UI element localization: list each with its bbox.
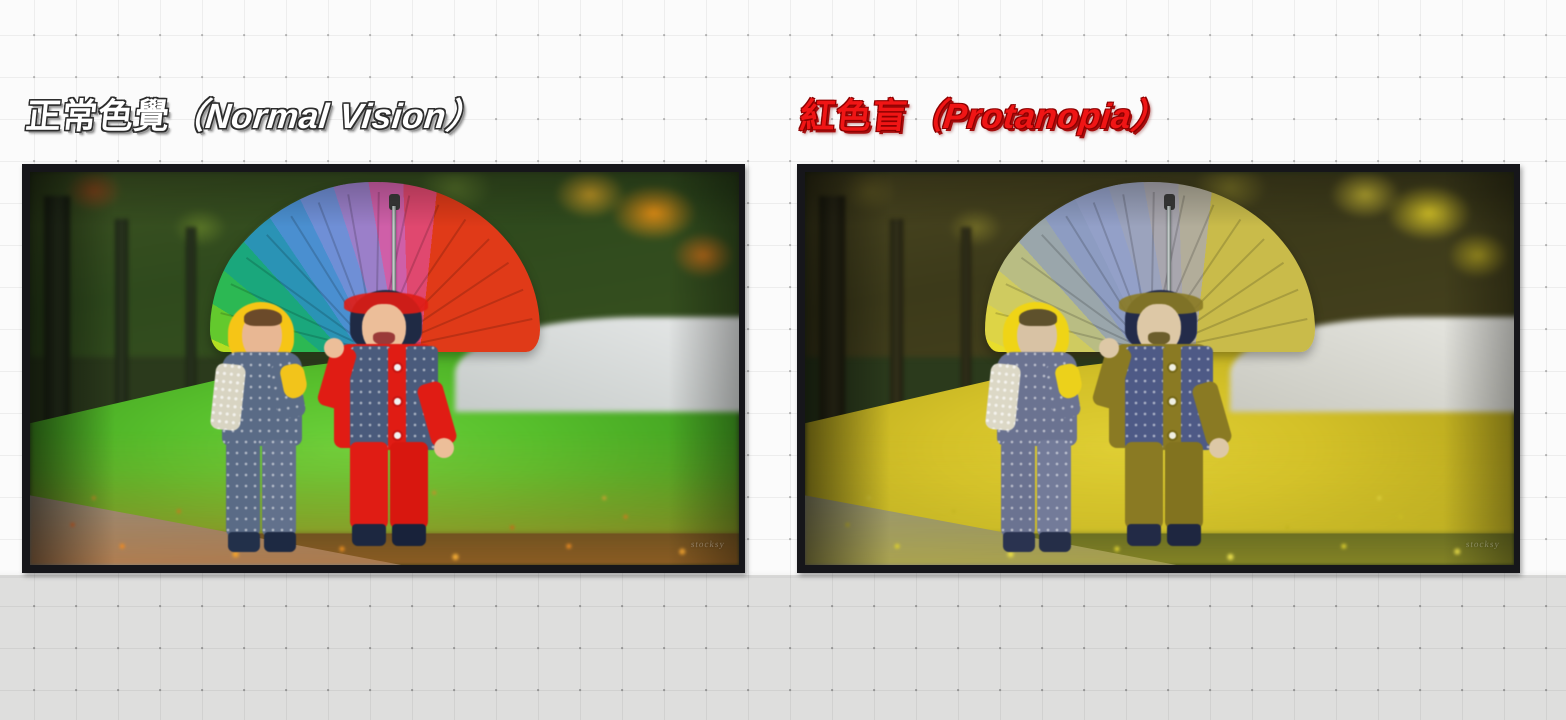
child-right-normal [328,290,458,565]
child-right-hand-out [434,438,454,458]
child-right-hand-out [1209,438,1229,458]
child-left-boot-1 [1003,532,1035,552]
child-right-boot-1 [1127,524,1161,546]
panel-title-protanopia: 紅色盲（Protanopia） [798,99,1169,135]
child-right-coat-pattern-left [350,346,392,450]
child-right-button-3 [1167,430,1178,441]
child-right-hand-up [1099,338,1119,358]
panel-title-protanopia-cjk: 紅色盲 [798,97,910,137]
photo-protanopia: stocksy [805,172,1514,565]
child-right-hand-up [324,338,344,358]
panel-title-normal-latin: （Normal Vision） [168,97,484,136]
child-left-normal [214,302,324,565]
child-left-boot-1 [228,532,260,552]
panel-title-normal-cjk: 正常色覺 [24,97,172,137]
child-right-coat-pattern-left [1125,346,1167,450]
tree-trunk-2 [115,219,128,416]
child-right-button-2 [1167,396,1178,407]
child-left-leg-1 [1001,440,1035,538]
tree-trunk-2 [890,219,903,416]
child-left-leg-2 [262,440,296,538]
child-right-button-1 [1167,362,1178,373]
child-right-protanopia [1103,290,1233,565]
child-right-leg-2 [1165,442,1203,530]
background-lower-band [0,575,1566,720]
child-right-boot-2 [1167,524,1201,546]
child-left-leg-1 [226,440,260,538]
tree-trunk-3 [961,227,971,392]
child-right-boot-2 [392,524,426,546]
tree-trunk-3 [186,227,196,392]
child-left-boot-2 [1039,532,1071,552]
child-left-leg-2 [1037,440,1071,538]
child-right-leg-1 [350,442,388,530]
photo-frame-protanopia: stocksy [797,164,1520,573]
child-right-leg-2 [390,442,428,530]
photo-frame-normal-vision: stocksy [22,164,745,573]
child-right-button-1 [392,362,403,373]
child-right-boot-1 [352,524,386,546]
child-left-boot-2 [264,532,296,552]
child-right-leg-1 [1125,442,1163,530]
child-right-button-3 [392,430,403,441]
photo-normal-vision: stocksy [30,172,739,565]
panel-title-protanopia-latin: （Protanopia） [906,97,1169,136]
child-right-button-2 [392,396,403,407]
panel-title-normal-vision: 正常色覺（Normal Vision） [24,99,483,135]
child-left-protanopia [989,302,1099,565]
